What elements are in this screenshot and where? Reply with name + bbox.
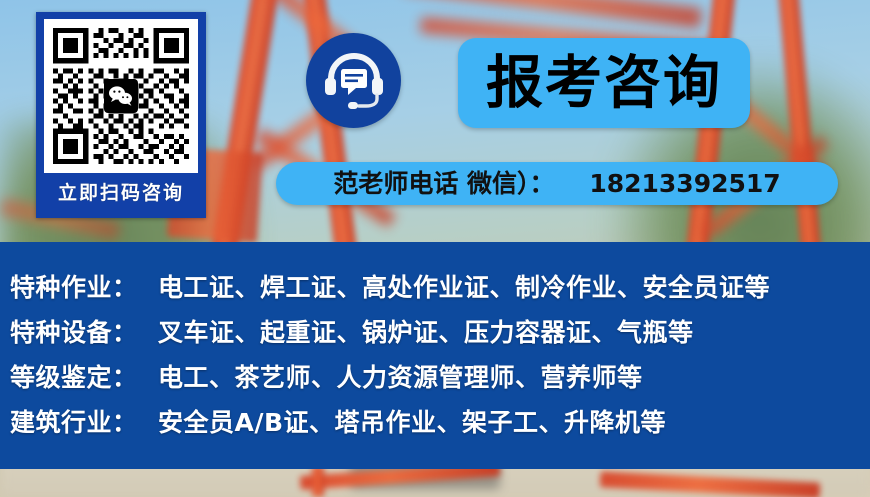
- info-row-label: 特种作业：: [10, 268, 158, 304]
- info-row-label: 等级鉴定：: [10, 358, 158, 394]
- contact-phone-label: 范老师电话 微信）： 18213392517: [333, 171, 780, 196]
- headset-support-badge[interactable]: [306, 33, 401, 128]
- info-row-label: 建筑行业：: [10, 403, 158, 439]
- info-row-value: 安全员A/B证、塔吊作业、架子工、升降机等: [158, 403, 870, 439]
- info-row-value: 电工、茶艺师、人力资源管理师、营养师等: [158, 358, 870, 394]
- wechat-icon: [104, 79, 138, 113]
- crane-beam: [312, 465, 324, 497]
- qr-caption-label: 立即扫码咨询: [58, 184, 184, 203]
- info-row: 特种作业： 电工证、焊工证、高处作业证、制冷作业、安全员证等: [0, 268, 870, 313]
- info-row: 建筑行业： 安全员A/B证、塔吊作业、架子工、升降机等: [0, 403, 870, 448]
- info-row: 等级鉴定： 电工、茶艺师、人力资源管理师、营养师等: [0, 358, 870, 403]
- info-row-value: 电工证、焊工证、高处作业证、制冷作业、安全员证等: [158, 268, 870, 304]
- consultation-title-label: 报考咨询: [486, 55, 722, 112]
- info-row-label: 特种设备：: [10, 313, 158, 349]
- contact-phone-pill[interactable]: 范老师电话 微信）： 18213392517: [276, 162, 838, 205]
- qr-code-card[interactable]: 立即扫码咨询: [36, 12, 206, 218]
- headset-chat-icon: [322, 51, 386, 111]
- certificate-category-panel: 特种作业： 电工证、焊工证、高处作业证、制冷作业、安全员证等 特种设备： 叉车证…: [0, 242, 870, 469]
- promo-poster: 立即扫码咨询 报考咨询 范老师电话 微信）： 18213392517 特: [0, 0, 870, 497]
- info-row: 特种设备： 叉车证、起重证、锅炉证、压力容器证、气瓶等: [0, 313, 870, 358]
- qr-code-image[interactable]: [44, 19, 198, 173]
- consultation-title-pill[interactable]: 报考咨询: [458, 38, 750, 128]
- wechat-glyph: [108, 85, 134, 107]
- info-row-value: 叉车证、起重证、锅炉证、压力容器证、气瓶等: [158, 313, 870, 349]
